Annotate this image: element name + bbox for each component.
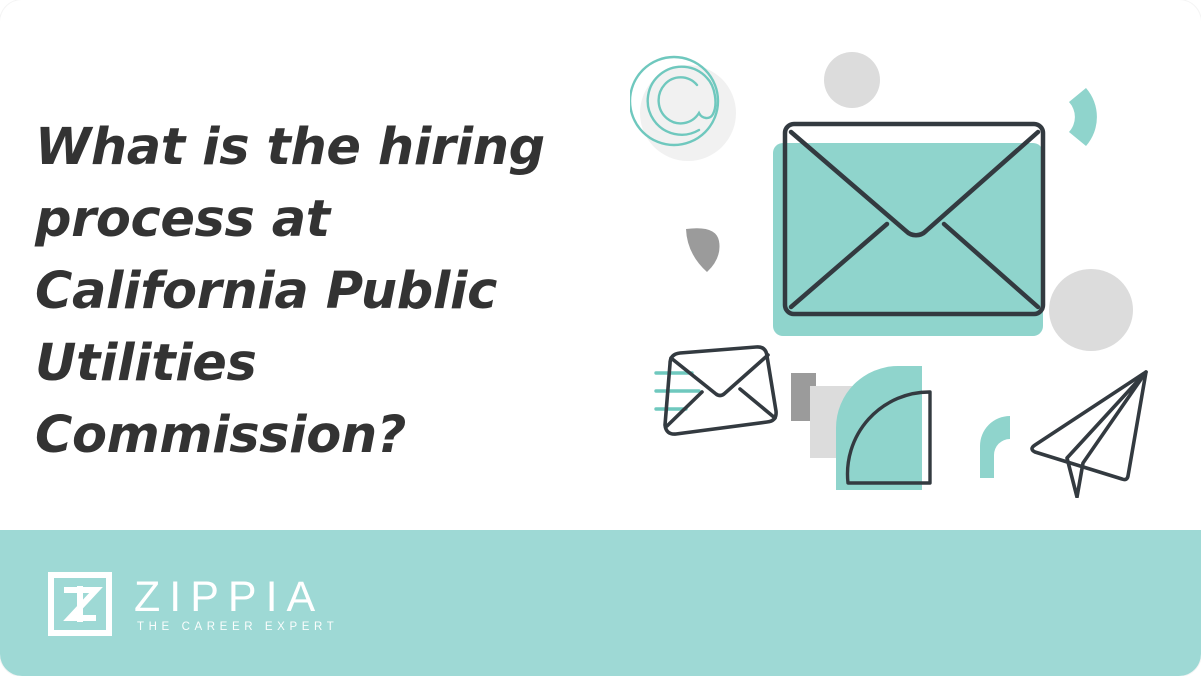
email-illustration <box>630 28 1175 498</box>
page-title: What is the hiring process at California… <box>35 112 605 472</box>
zippia-logo[interactable]: ZIPPIA THE CAREER EXPERT <box>48 568 338 640</box>
gray-circle-small-icon <box>824 52 880 108</box>
zippia-question-card: What is the hiring process at California… <box>0 0 1201 676</box>
teal-elbow-icon <box>980 416 1010 478</box>
brand-tagline: THE CAREER EXPERT <box>134 619 338 635</box>
teal-crescent-icon <box>1069 88 1097 146</box>
brand-name: ZIPPIA <box>134 575 338 619</box>
paper-plane-icon <box>1032 372 1146 497</box>
main-envelope-backing <box>773 143 1043 336</box>
gray-wedge-icon <box>686 228 720 272</box>
at-symbol-icon <box>630 57 736 161</box>
gray-circle-large-icon <box>1049 269 1133 351</box>
zippia-z-mark-icon <box>48 572 112 636</box>
brand-text: ZIPPIA THE CAREER EXPERT <box>134 573 338 635</box>
card-surface: What is the hiring process at California… <box>0 0 1201 676</box>
